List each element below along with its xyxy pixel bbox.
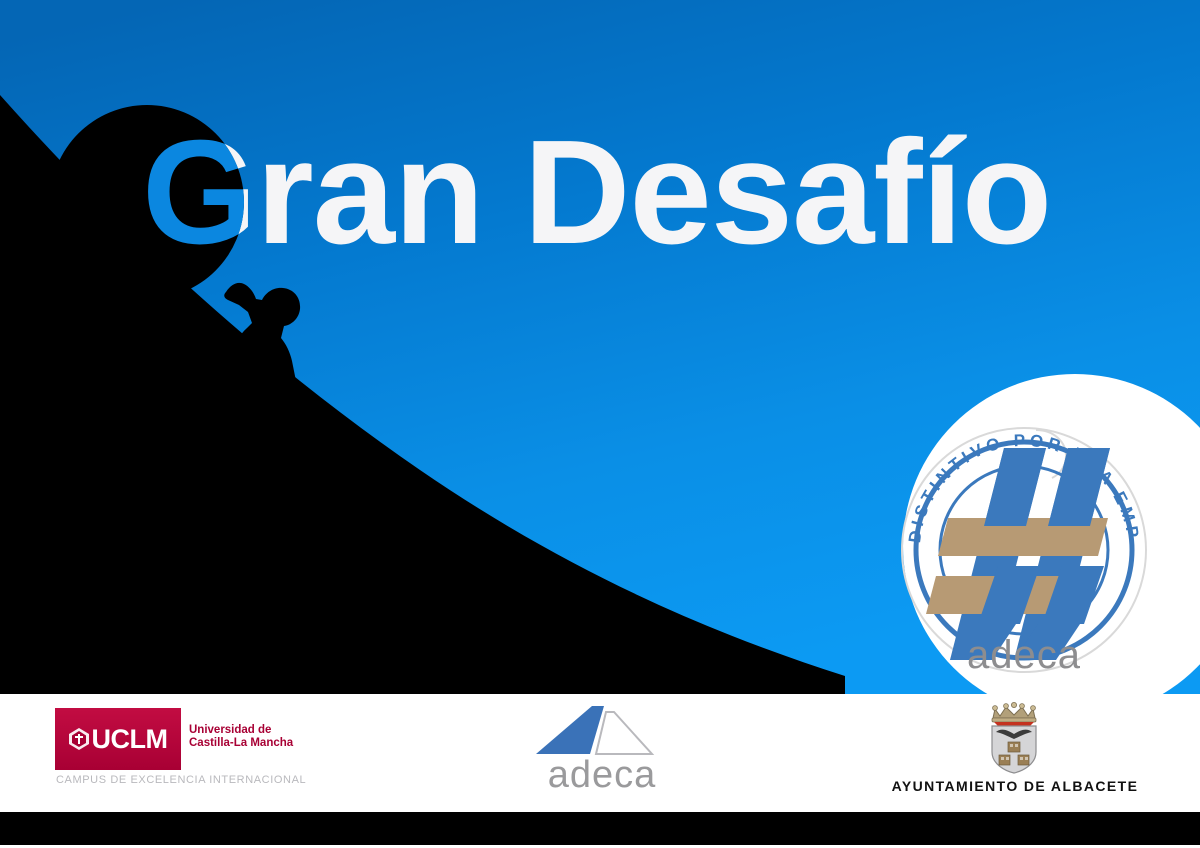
ayuntamiento-wordmark: AYUNTAMIENTO DE ALBACETE (885, 778, 1145, 794)
uclm-red-box: UCLM (55, 708, 181, 770)
adeca-wordmark: adeca (522, 754, 682, 796)
seal-brand-word: adeca (967, 633, 1081, 677)
adeca-seal-badge: DISTINTIVO POR UNA EMPRESA IGUAL adeca (840, 370, 1200, 694)
crown (992, 702, 1036, 726)
sponsor-logo-strip: UCLM Universidad de Castilla-La Mancha C… (0, 694, 1200, 812)
uclm-logo: UCLM Universidad de Castilla-La Mancha C… (55, 708, 325, 796)
ayuntamiento-logo: AYUNTAMIENTO DE ALBACETE (885, 702, 1145, 802)
bottom-black-bar (0, 812, 1200, 845)
uclm-shield-icon (69, 728, 89, 750)
boulder (50, 105, 244, 299)
uclm-tagline: CAMPUS DE EXCELENCIA INTERNACIONAL (56, 774, 306, 786)
poster-canvas: Gran Desafío Gran Desafío DISTINTIVO (0, 0, 1200, 848)
adeca-logo: adeca (520, 702, 680, 802)
uclm-name-line1: Universidad de (189, 724, 271, 736)
uclm-full-name: Universidad de Castilla-La Mancha (189, 724, 293, 750)
uclm-acronym: UCLM (92, 726, 168, 753)
uclm-name-line2: Castilla-La Mancha (189, 737, 293, 749)
albacete-coat-of-arms-icon (965, 702, 1063, 774)
